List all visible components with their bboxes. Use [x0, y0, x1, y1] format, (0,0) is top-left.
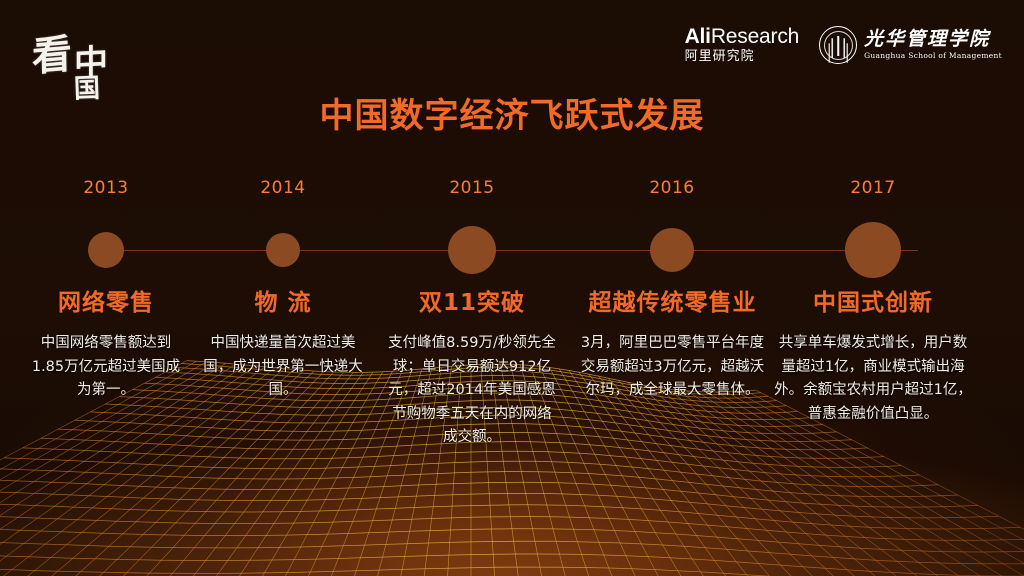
ali-research-wordmark: AliResearch: [685, 26, 800, 48]
milestone-column-2016: 超越传统零售业3月，阿里巴巴零售平台年度交易额超过3万亿元，超越沃尔玛，成全球最…: [565, 290, 780, 403]
infographic-slide: 看 中 国 AliResearch 阿里研究院 光华管理学院 Guanghua …: [0, 0, 1024, 576]
milestone-body-text: 中国快递量首次超过美国，成为世界第一快递大国。: [199, 332, 367, 402]
milestone-heading: 双11突破: [377, 290, 567, 316]
page-title: 中国数字经济飞跃式发展: [0, 88, 1024, 137]
guanghua-logo: 光华管理学院 Guanghua School of Management: [819, 26, 1002, 64]
timeline-axis-line: [106, 250, 918, 251]
milestone-column-2013: 网络零售中国网络零售额达到1.85万亿元超过美国成为第一。: [8, 290, 204, 403]
timeline: 20132014201520162017: [0, 178, 1024, 268]
timeline-year-label: 2016: [592, 178, 752, 198]
timeline-node-2015[interactable]: 2015: [392, 178, 552, 198]
timeline-year-label: 2015: [392, 178, 552, 198]
ali-wordmark-bold: Ali: [685, 25, 711, 48]
guanghua-english: Guanghua School of Management: [864, 52, 1002, 60]
guanghua-seal-icon: [819, 26, 857, 64]
research-wordmark: Research: [711, 25, 799, 48]
timeline-year-label: 2013: [26, 178, 186, 198]
ali-research-logo: AliResearch 阿里研究院: [685, 26, 800, 64]
timeline-dot[interactable]: [448, 226, 496, 274]
milestone-column-2014: 物 流中国快递量首次超过美国，成为世界第一快递大国。: [188, 290, 378, 403]
logo-char-kan: 看: [32, 34, 73, 78]
timeline-node-2017[interactable]: 2017: [793, 178, 953, 198]
ali-research-chinese: 阿里研究院: [685, 50, 800, 64]
guanghua-wordmark: 光华管理学院 Guanghua School of Management: [864, 29, 1002, 60]
guanghua-chinese: 光华管理学院: [864, 29, 1002, 50]
timeline-dot[interactable]: [88, 232, 124, 268]
milestone-heading: 超越传统零售业: [565, 290, 780, 316]
partner-logos: AliResearch 阿里研究院 光华管理学院 Guanghua School…: [685, 26, 1002, 64]
milestone-heading: 网络零售: [8, 290, 204, 316]
milestone-body-text: 支付峰值8.59万/秒领先全球；单日交易额达912亿元，超过2014年美国感恩节…: [386, 332, 558, 449]
milestone-body-text: 中国网络零售额达到1.85万亿元超过美国成为第一。: [31, 332, 181, 402]
timeline-year-label: 2014: [203, 178, 363, 198]
milestone-columns: 网络零售中国网络零售额达到1.85万亿元超过美国成为第一。物 流中国快递量首次超…: [0, 290, 1024, 570]
timeline-dot[interactable]: [650, 228, 694, 272]
milestone-body-text: 共享单车爆发式增长，用户数量超过1亿，商业模式输出海外。余额宝农村用户超过1亿，…: [774, 332, 972, 426]
timeline-dot[interactable]: [845, 222, 901, 278]
timeline-node-2016[interactable]: 2016: [592, 178, 752, 198]
timeline-dot[interactable]: [266, 233, 300, 267]
milestone-heading: 物 流: [188, 290, 378, 316]
timeline-node-2013[interactable]: 2013: [26, 178, 186, 198]
milestone-column-2015: 双11突破支付峰值8.59万/秒领先全球；单日交易额达912亿元，超过2014年…: [377, 290, 567, 450]
timeline-year-label: 2017: [793, 178, 953, 198]
timeline-node-2014[interactable]: 2014: [203, 178, 363, 198]
milestone-body-text: 3月，阿里巴巴零售平台年度交易额超过3万亿元，超越沃尔玛，成全球最大零售体。: [575, 332, 771, 402]
milestone-column-2017: 中国式创新共享单车爆发式增长，用户数量超过1亿，商业模式输出海外。余额宝农村用户…: [764, 290, 982, 426]
milestone-heading: 中国式创新: [764, 290, 982, 316]
